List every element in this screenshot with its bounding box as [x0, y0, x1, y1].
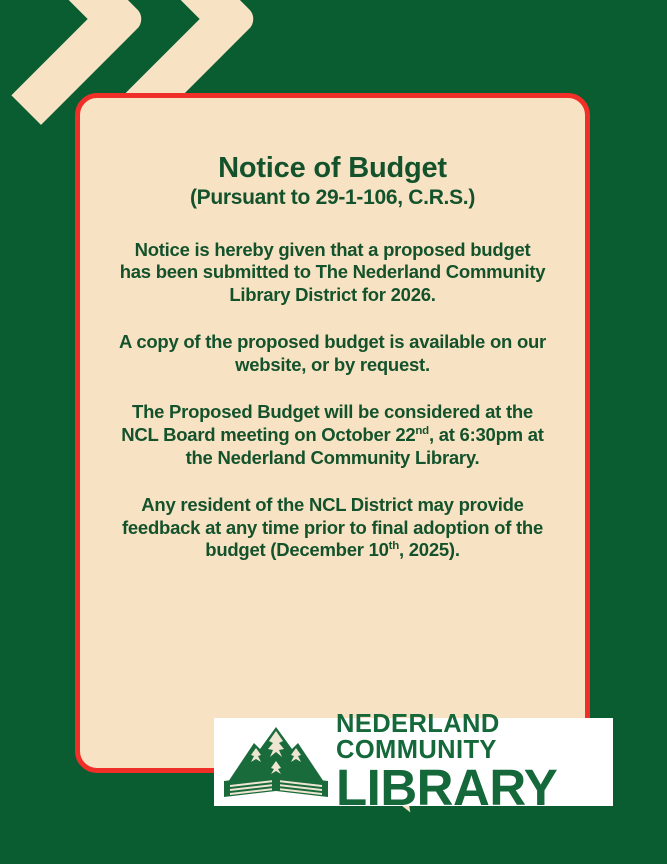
logo-wordmark: NEDERLAND COMMUNITY LIBRARY [336, 712, 613, 812]
notice-paragraph-1: Notice is hereby given that a proposed b… [118, 239, 547, 307]
notice-paragraph-4: Any resident of the NCL District may pro… [118, 494, 547, 562]
logo-line-nederland-community: NEDERLAND COMMUNITY [336, 712, 613, 763]
notice-paragraph-2: A copy of the proposed budget is availab… [118, 331, 547, 376]
notice-card-content: Notice of Budget (Pursuant to 29-1-106, … [80, 98, 585, 562]
library-logo: NEDERLAND COMMUNITY LIBRARY [214, 718, 613, 806]
notice-paragraph-3-ordinal: nd [415, 425, 429, 437]
notice-paragraph-4-ordinal: th [389, 540, 399, 552]
logo-line-library: LIBRARY [336, 765, 613, 812]
notice-paragraph-4-before: Any resident of the NCL District may pro… [122, 494, 543, 560]
notice-paragraph-4-after: , 2025). [399, 539, 460, 560]
mountain-over-open-book-icon [222, 723, 330, 801]
page-subtitle: (Pursuant to 29-1-106, C.R.S.) [118, 186, 547, 210]
notice-card: Notice of Budget (Pursuant to 29-1-106, … [75, 93, 590, 773]
page-title: Notice of Budget [118, 152, 547, 184]
notice-paragraph-3: The Proposed Budget will be considered a… [118, 401, 547, 469]
budget-notice-poster: Notice of Budget (Pursuant to 29-1-106, … [0, 0, 667, 864]
